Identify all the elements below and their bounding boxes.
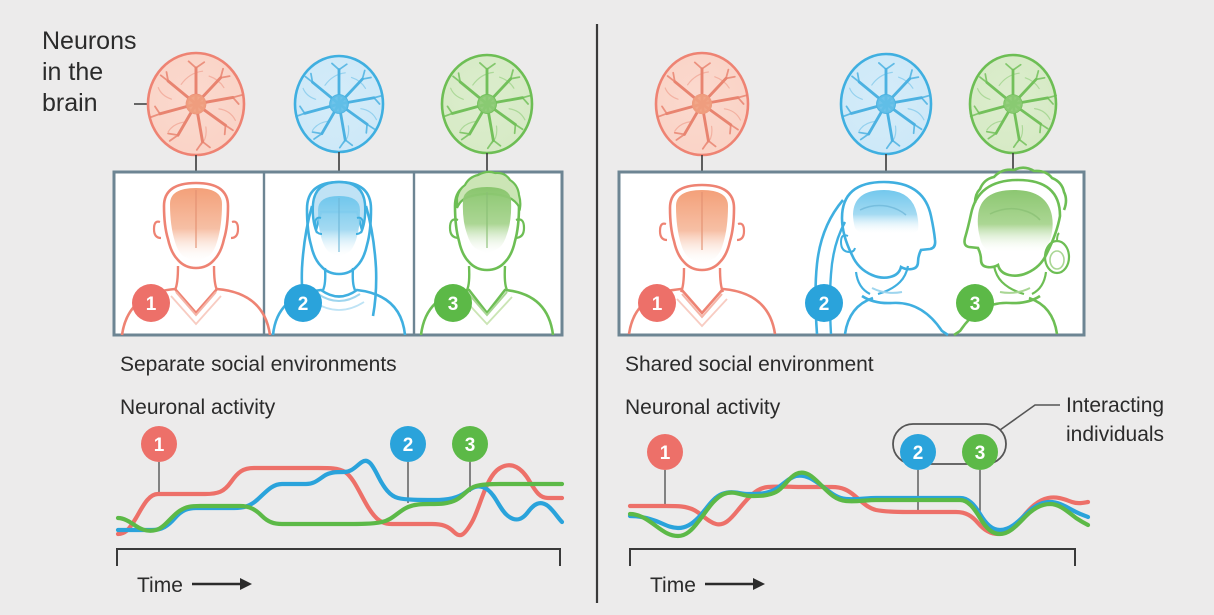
right-environment-label: Shared social environment [625,353,874,376]
left-badge-3-text: 3 [448,294,459,315]
right-time-label: Time [650,574,696,597]
right-activity-label: Neuronal activity [625,396,781,419]
right-marker-2-text: 2 [913,443,924,464]
left-marker-3-text: 3 [465,435,476,456]
right-marker-1-text: 1 [660,443,671,464]
left-neuron-2 [295,56,383,152]
right-badge-3-text: 3 [970,294,981,315]
right-badge-2: 2 [805,284,843,322]
left-marker-2: 2 [390,426,426,462]
left-marker-2-text: 2 [403,435,414,456]
right-marker-1: 1 [647,434,683,470]
left-marker-1: 1 [141,426,177,462]
left-badge-1-text: 1 [146,294,157,315]
left-time-label: Time [137,574,183,597]
interacting-label-line2: individuals [1066,423,1164,446]
right-marker-2: 2 [900,434,936,470]
right-badge-2-text: 2 [819,294,830,315]
left-activity-label: Neuronal activity [120,396,276,419]
diagram-canvas: Neurons in the brain [0,0,1214,615]
right-badge-1: 1 [638,284,676,322]
neurons-label-line2: in the [42,58,103,86]
right-marker-3-text: 3 [975,443,986,464]
left-marker-3: 3 [452,426,488,462]
right-badge-3: 3 [956,284,994,322]
interacting-label-line1: Interacting [1066,394,1164,417]
left-badge-3: 3 [434,284,472,322]
left-neuron-3 [442,55,532,153]
right-neuron-3 [970,55,1056,153]
neurons-label-line3: brain [42,89,98,117]
left-environment-label: Separate social environments [120,353,397,376]
left-badge-2: 2 [284,284,322,322]
right-neuron-2 [841,54,931,154]
right-marker-3: 3 [962,434,998,470]
neurons-label-line1: Neurons [42,27,137,55]
left-badge-2-text: 2 [298,294,309,315]
left-marker-1-text: 1 [154,435,165,456]
figure-root: Neurons in the brain [0,0,1214,615]
right-badge-1-text: 1 [652,294,663,315]
left-neuron-1 [148,53,244,155]
right-neuron-1 [656,53,748,155]
left-badge-1: 1 [132,284,170,322]
